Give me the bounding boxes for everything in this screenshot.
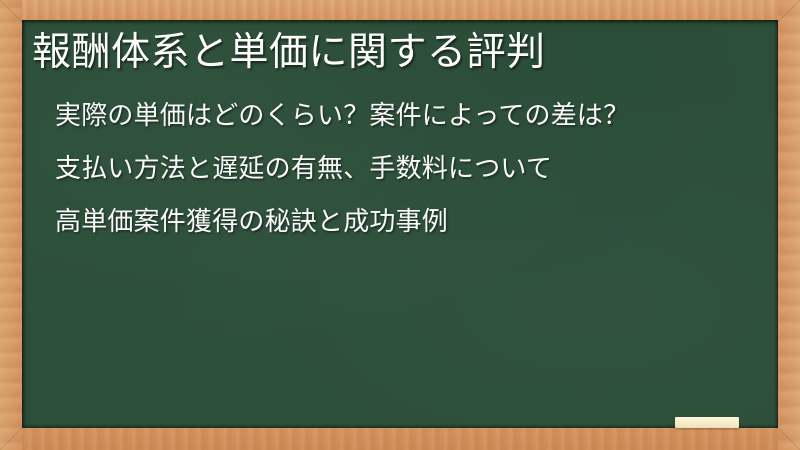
chalk-stick-icon bbox=[675, 417, 739, 428]
bullet-item-2: 支払い方法と遅延の有無、手数料について bbox=[55, 156, 764, 182]
slide-title: 報酬体系と単価に関する評判 bbox=[32, 31, 546, 76]
slide-content: 報酬体系と単価に関する評判 実際の単価はどのくらい？案件によっての差は？ 支払い… bbox=[22, 20, 778, 428]
frame-left-rail bbox=[0, 0, 22, 450]
frame-top-rail bbox=[0, 0, 800, 20]
bullet-item-3: 高単価案件獲得の秘訣と成功事例 bbox=[55, 209, 764, 235]
frame-right-rail bbox=[778, 0, 800, 450]
bullet-item-1: 実際の単価はどのくらい？案件によっての差は？ bbox=[55, 103, 764, 129]
bullet-list: 実際の単価はどのくらい？案件によっての差は？ 支払い方法と遅延の有無、手数料につ… bbox=[55, 103, 764, 235]
frame-bottom-rail bbox=[0, 428, 800, 450]
chalkboard-surface: 報酬体系と単価に関する評判 実際の単価はどのくらい？案件によっての差は？ 支払い… bbox=[22, 20, 778, 428]
chalkboard-slide: 報酬体系と単価に関する評判 実際の単価はどのくらい？案件によっての差は？ 支払い… bbox=[0, 0, 800, 450]
